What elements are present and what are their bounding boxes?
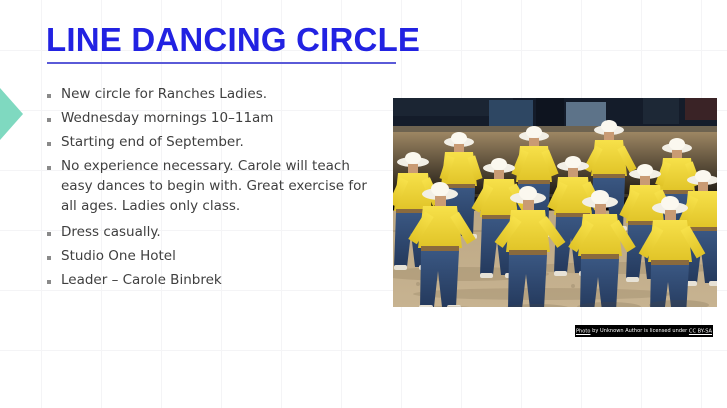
bullet-square-icon <box>47 142 51 146</box>
list-item: Leader – Carole Binbrek <box>47 270 377 291</box>
bullet-square-icon <box>47 118 51 122</box>
bullet-square-icon <box>47 280 51 284</box>
slide-title: LINE DANCING CIRCLE <box>46 21 420 59</box>
list-item: No experience necessary. Carole will tea… <box>47 156 377 216</box>
list-item: Starting end of September. <box>47 132 377 153</box>
slide: LINE DANCING CIRCLE New circle for Ranch… <box>0 0 727 408</box>
list-item: Studio One Hotel <box>47 246 377 267</box>
list-item-label: No experience necessary. Carole will tea… <box>61 156 377 216</box>
title-underline <box>47 62 396 64</box>
bullet-square-icon <box>47 166 51 170</box>
list-item-label: Leader – Carole Binbrek <box>61 270 222 291</box>
bullet-list: New circle for Ranches Ladies. Wednesday… <box>47 84 377 294</box>
list-item: Wednesday mornings 10–11am <box>47 108 377 129</box>
license-link[interactable]: CC BY-SA <box>689 329 712 335</box>
list-item: New circle for Ranches Ladies. <box>47 84 377 105</box>
bullet-square-icon <box>47 94 51 98</box>
photo-credit-bar: Photo by Unknown Author is licensed unde… <box>575 325 713 337</box>
line-dancing-photo <box>393 98 717 307</box>
list-item-label: Dress casually. <box>61 222 161 243</box>
photo-credit-text: by Unknown Author is licensed under <box>591 328 689 334</box>
list-item-label: Wednesday mornings 10–11am <box>61 108 273 129</box>
teal-arrow-decoration <box>0 88 23 140</box>
photo-credit-link[interactable]: Photo <box>576 329 591 335</box>
bullet-square-icon <box>47 256 51 260</box>
list-item-label: Starting end of September. <box>61 132 244 153</box>
list-item-label: New circle for Ranches Ladies. <box>61 84 267 105</box>
list-item-label: Studio One Hotel <box>61 246 176 267</box>
bullet-square-icon <box>47 232 51 236</box>
list-item: Dress casually. <box>47 222 377 243</box>
